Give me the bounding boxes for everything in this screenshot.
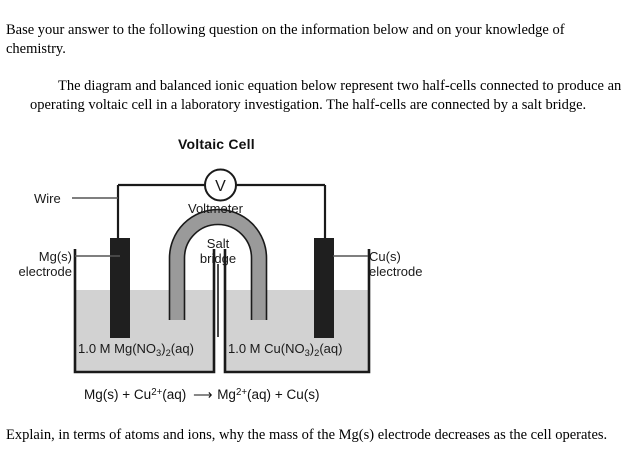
voltaic-cell-diagram: Voltaic Cell V Wire Voltmeter [0,132,643,407]
salt-bridge-label: Salt bridge [193,236,243,266]
equation-reactant-2-symbol: Cu [134,387,151,402]
equation-product-2: Cu(s) [286,387,319,402]
equation-reactant-2-charge: 2+ [151,387,162,398]
equation-product-1-charge: 2+ [236,387,247,398]
mg-electrode-label-line2: electrode [19,264,72,279]
cu-electrode-label-line1: Cu(s) [369,249,401,264]
right-solution-formula-prefix: Cu(NO [264,341,304,356]
cu-electrode-label-line2: electrode [369,264,422,279]
equation-product-1-state: (aq) [247,387,271,402]
mg-electrode-label-line1: Mg(s) [39,249,72,264]
wire-label: Wire [34,191,61,206]
question-stem-paragraph: The diagram and balanced ionic equation … [30,77,630,115]
salt-bridge-label-line1: Salt [207,236,229,251]
voltmeter-label: Voltmeter [188,201,243,216]
mg-electrode-label: Mg(s) electrode [6,249,72,279]
voltaic-cell-illustration: V [0,132,643,407]
right-solution-formula-state: (aq) [319,341,342,356]
voltmeter-symbol: V [215,178,226,195]
right-solution-label: 1.0 M Cu(NO3)2(aq) [228,341,342,361]
equation-plus-1: + [122,387,130,402]
left-solution-concentration: 1.0 M [78,341,111,356]
salt-bridge-label-line2: bridge [200,251,236,266]
left-solution-formula-prefix: Mg(NO [114,341,156,356]
left-solution-label: 1.0 M Mg(NO3)2(aq) [78,341,194,361]
equation-product-1-symbol: Mg [217,387,236,402]
cu-electrode [314,238,334,338]
equation-arrow-icon: ⟶ [190,387,213,402]
question-prompt: Explain, in terms of atoms and ions, why… [6,426,631,445]
equation-reactant-2-state: (aq) [162,387,186,402]
intro-paragraph: Base your answer to the following questi… [6,21,626,59]
balanced-ionic-equation: Mg(s) + Cu2+(aq) ⟶ Mg2+(aq) + Cu(s) [84,387,319,403]
equation-plus-2: + [275,387,283,402]
left-solution-formula-state: (aq) [171,341,194,356]
mg-electrode [110,238,130,338]
equation-reactant-1: Mg(s) [84,387,119,402]
cu-electrode-label: Cu(s) electrode [369,249,422,279]
right-solution-concentration: 1.0 M [228,341,261,356]
